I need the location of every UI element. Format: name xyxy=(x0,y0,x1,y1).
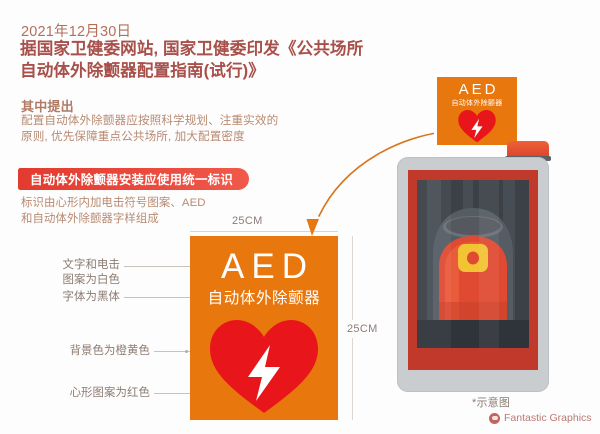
callout-leader-0 xyxy=(124,266,190,267)
callout-0-line-2: 图案为白色 xyxy=(20,273,120,288)
dimension-label-right: 25CM xyxy=(345,320,380,338)
subhead-body: 配置自动体外除颤器应按照科学规划、注重实效的 原则, 优先保障重点公共场所, 加… xyxy=(21,113,278,145)
callout-label-white-text: 文字和电击 图案为白色 xyxy=(20,258,120,288)
callout-3-line-1: 心形图案为红色 xyxy=(20,386,150,401)
aed-sign-mini: AED 自动体外除颤器 xyxy=(437,77,517,145)
watermark: Fantastic Graphics xyxy=(489,412,592,424)
aed-device-icon xyxy=(417,180,529,348)
callout-leader-1 xyxy=(124,297,190,298)
callout-label-font: 字体为黑体 xyxy=(20,290,120,305)
callout-1-line-1: 字体为黑体 xyxy=(20,290,120,305)
infographic-canvas: 2021年12月30日 据国家卫健委网站, 国家卫健委印发《公共场所 自动体外除… xyxy=(0,0,600,434)
aed-sign-mini-chinese: 自动体外除颤器 xyxy=(437,99,517,108)
page-title-line-2: 自动体外除颤器配置指南(试行)》 xyxy=(20,60,363,82)
callout-2-line-1: 背景色为橙黄色 xyxy=(20,344,150,359)
badge-note-line-2: 和自动体外除颤器字样组成 xyxy=(21,212,206,228)
subhead-body-line-1: 配置自动体外除颤器应按照科学规划、注重实效的 xyxy=(21,113,278,129)
aed-sign-large: AED 自动体外除颤器 xyxy=(190,236,338,420)
aed-sign-large-acronym: AED xyxy=(190,248,338,286)
badge-note: 标识由心形内加电击符号图案、AED 和自动体外除颤器字样组成 xyxy=(21,196,206,227)
heart-bolt-icon xyxy=(208,317,320,415)
callout-dot-2 xyxy=(185,350,188,353)
page-title-line-1: 据国家卫健委网站, 国家卫健委印发《公共场所 xyxy=(20,39,363,58)
unified-sign-badge: 自动体外除颤器安装应使用统一标识 xyxy=(18,168,249,190)
aed-sign-large-chinese: 自动体外除颤器 xyxy=(190,290,338,308)
watermark-text: Fantastic Graphics xyxy=(504,412,592,424)
dimension-label-top: 25CM xyxy=(232,215,263,227)
watermark-logo-icon xyxy=(489,413,500,424)
heart-bolt-icon-mini xyxy=(454,109,500,143)
page-title: 据国家卫健委网站, 国家卫健委印发《公共场所 自动体外除颤器配置指南(试行)》 xyxy=(20,38,363,82)
callout-label-heart: 心形图案为红色 xyxy=(20,386,150,401)
cabinet-glass-window xyxy=(417,180,529,348)
cabinet-note: *示意图 xyxy=(472,394,510,410)
badge-note-line-1: 标识由心形内加电击符号图案、AED xyxy=(21,196,206,212)
callout-leader-3 xyxy=(154,393,190,394)
subhead-body-line-2: 原则, 优先保障重点公共场所, 加大配置密度 xyxy=(21,129,278,145)
aed-sign-mini-acronym: AED xyxy=(437,81,517,98)
callout-label-background: 背景色为橙黄色 xyxy=(20,344,150,359)
callout-0-line-1: 文字和电击 xyxy=(20,258,120,273)
